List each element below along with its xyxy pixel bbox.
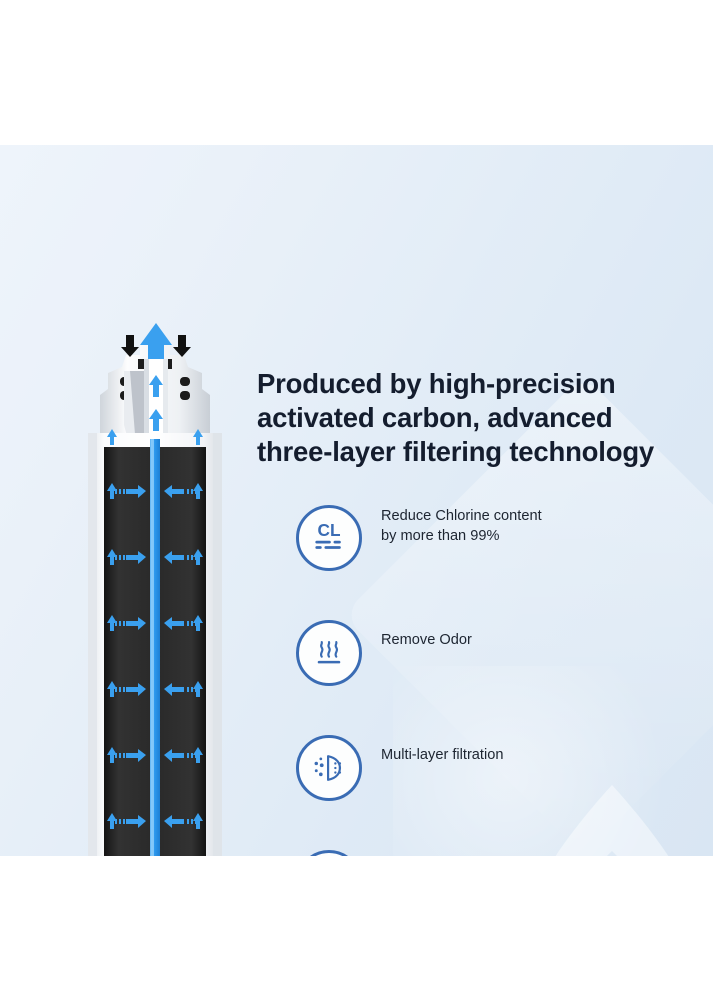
- feature-text-chlorine-line-2: by more than 99%: [381, 526, 681, 546]
- chlorine-cl-icon: CL: [296, 505, 362, 571]
- headline-line-2: activated carbon, advanced: [257, 401, 693, 435]
- feature-item-odor: Remove Odor: [296, 620, 696, 735]
- feature-item-chlorine: CL Reduce Chlorine content by more than …: [296, 505, 696, 620]
- feature-text-chlorine-line-1: Reduce Chlorine content: [381, 506, 681, 526]
- feature-text-odor-line-1: Remove Odor: [381, 630, 681, 650]
- feature-text-filtration-line-1: Multi-layer filtration: [381, 745, 681, 765]
- odor-waves-icon: [296, 620, 362, 686]
- hero-panel: Produced by high-precision activated car…: [0, 145, 713, 856]
- page-headline: Produced by high-precision activated car…: [257, 367, 693, 469]
- feature-text-filtration: Multi-layer filtration: [381, 745, 681, 765]
- feature-item-food-grade: Food grade materials: [296, 850, 696, 856]
- multi-layer-filter-icon: [296, 735, 362, 801]
- feature-item-filtration: Multi-layer filtration: [296, 735, 696, 850]
- chlorine-cl-label: CL: [317, 520, 340, 540]
- glass-fork-food-grade-icon: [296, 850, 362, 856]
- feature-list: CL Reduce Chlorine content by more than …: [296, 505, 696, 856]
- water-filter-cartridge-cutaway: [60, 315, 250, 856]
- headline-line-1: Produced by high-precision: [257, 367, 693, 401]
- feature-text-chlorine: Reduce Chlorine content by more than 99%: [381, 506, 681, 546]
- feature-text-odor: Remove Odor: [381, 630, 681, 650]
- headline-line-3: three-layer filtering technology: [257, 435, 693, 469]
